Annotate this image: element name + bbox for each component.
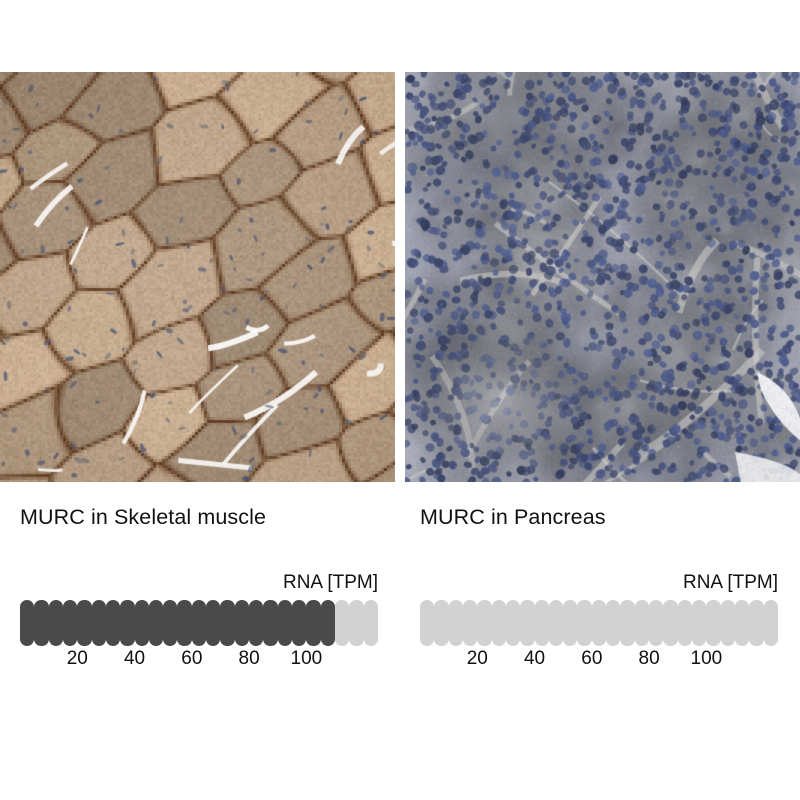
rna-bar-skeletal-muscle-5: [77, 600, 91, 646]
rna-bar-skeletal-muscle-7: [106, 600, 120, 646]
rna-bar-skeletal-muscle-10: [149, 600, 163, 646]
rna-bar-pancreas-18: [663, 600, 677, 646]
rna-bar-pancreas-8: [520, 600, 534, 646]
rna-tick-pancreas-60: 60: [581, 648, 602, 670]
rna-bar-skeletal-muscle-4: [63, 600, 77, 646]
rna-bar-skeletal-muscle-15: [220, 600, 234, 646]
rna-tick-skeletal-muscle-20: 20: [67, 648, 88, 670]
rna-tick-pancreas-20: 20: [467, 648, 488, 670]
rna-axis-label-skeletal-muscle: RNA [TPM]: [283, 572, 378, 594]
rna-bar-skeletal-muscle-14: [206, 600, 220, 646]
rna-bar-pancreas-4: [463, 600, 477, 646]
rna-bar-track-skeletal-muscle: [20, 600, 378, 646]
rna-bar-pancreas-1: [420, 600, 434, 646]
rna-bar-pancreas-12: [577, 600, 591, 646]
figure-root: MURC in Skeletal muscle MURC in Pancreas…: [0, 0, 800, 800]
rna-bar-skeletal-muscle-19: [278, 600, 292, 646]
rna-bar-pancreas-25: [764, 600, 778, 646]
rna-bar-pancreas-19: [678, 600, 692, 646]
rna-bar-skeletal-muscle-3: [49, 600, 63, 646]
rna-bar-pancreas-11: [563, 600, 577, 646]
rna-bar-pancreas-15: [620, 600, 634, 646]
rna-bar-skeletal-muscle-1: [20, 600, 34, 646]
rna-bar-skeletal-muscle-25: [364, 600, 378, 646]
rna-bar-pancreas-2: [434, 600, 448, 646]
rna-bar-skeletal-muscle-17: [249, 600, 263, 646]
rna-bar-pancreas-16: [635, 600, 649, 646]
caption-skeletal-muscle: MURC in Skeletal muscle: [20, 505, 266, 530]
rna-bar-skeletal-muscle-18: [263, 600, 277, 646]
rna-axis-label-pancreas: RNA [TPM]: [683, 572, 778, 594]
rna-bar-skeletal-muscle-23: [335, 600, 349, 646]
rna-tick-labels-pancreas: 20406080100: [420, 648, 778, 674]
rna-tick-pancreas-40: 40: [524, 648, 545, 670]
rna-bar-skeletal-muscle-8: [120, 600, 134, 646]
rna-bar-skeletal-muscle-2: [34, 600, 48, 646]
rna-bar-pancreas-17: [649, 600, 663, 646]
rna-bar-pancreas-3: [449, 600, 463, 646]
micrograph-skeletal-muscle: [0, 72, 395, 482]
rna-bar-skeletal-muscle-9: [135, 600, 149, 646]
micrograph-pancreas: [405, 72, 800, 482]
rna-bar-skeletal-muscle-12: [177, 600, 191, 646]
rna-bar-skeletal-muscle-6: [92, 600, 106, 646]
rna-bar-skeletal-muscle-13: [192, 600, 206, 646]
rna-bar-skeletal-muscle-11: [163, 600, 177, 646]
rna-bar-skeletal-muscle-24: [349, 600, 363, 646]
rna-tick-pancreas-80: 80: [639, 648, 660, 670]
rna-bar-pancreas-10: [549, 600, 563, 646]
rna-bar-track-pancreas: [420, 600, 778, 646]
rna-bar-skeletal-muscle-16: [235, 600, 249, 646]
caption-pancreas: MURC in Pancreas: [420, 505, 606, 530]
rna-bar-pancreas-9: [535, 600, 549, 646]
rna-tick-labels-skeletal-muscle: 20406080100: [20, 648, 378, 674]
rna-bar-pancreas-6: [492, 600, 506, 646]
rna-tick-skeletal-muscle-100: 100: [291, 648, 323, 670]
micrograph-canvas-skeletal-muscle: [0, 72, 395, 482]
rna-bar-pancreas-21: [706, 600, 720, 646]
rna-bar-pancreas-22: [721, 600, 735, 646]
rna-bar-pancreas-7: [506, 600, 520, 646]
rna-tick-skeletal-muscle-80: 80: [239, 648, 260, 670]
rna-bar-skeletal-muscle-22: [321, 600, 335, 646]
rna-bar-pancreas-5: [477, 600, 491, 646]
rna-bar-pancreas-24: [749, 600, 763, 646]
rna-bar-pancreas-14: [606, 600, 620, 646]
rna-bar-skeletal-muscle-21: [306, 600, 320, 646]
rna-bar-pancreas-23: [735, 600, 749, 646]
rna-tick-skeletal-muscle-60: 60: [181, 648, 202, 670]
rna-bar-pancreas-20: [692, 600, 706, 646]
rna-bar-skeletal-muscle-20: [292, 600, 306, 646]
rna-tick-skeletal-muscle-40: 40: [124, 648, 145, 670]
micrograph-canvas-pancreas: [405, 72, 800, 482]
rna-tick-pancreas-100: 100: [691, 648, 723, 670]
rna-bar-pancreas-13: [592, 600, 606, 646]
